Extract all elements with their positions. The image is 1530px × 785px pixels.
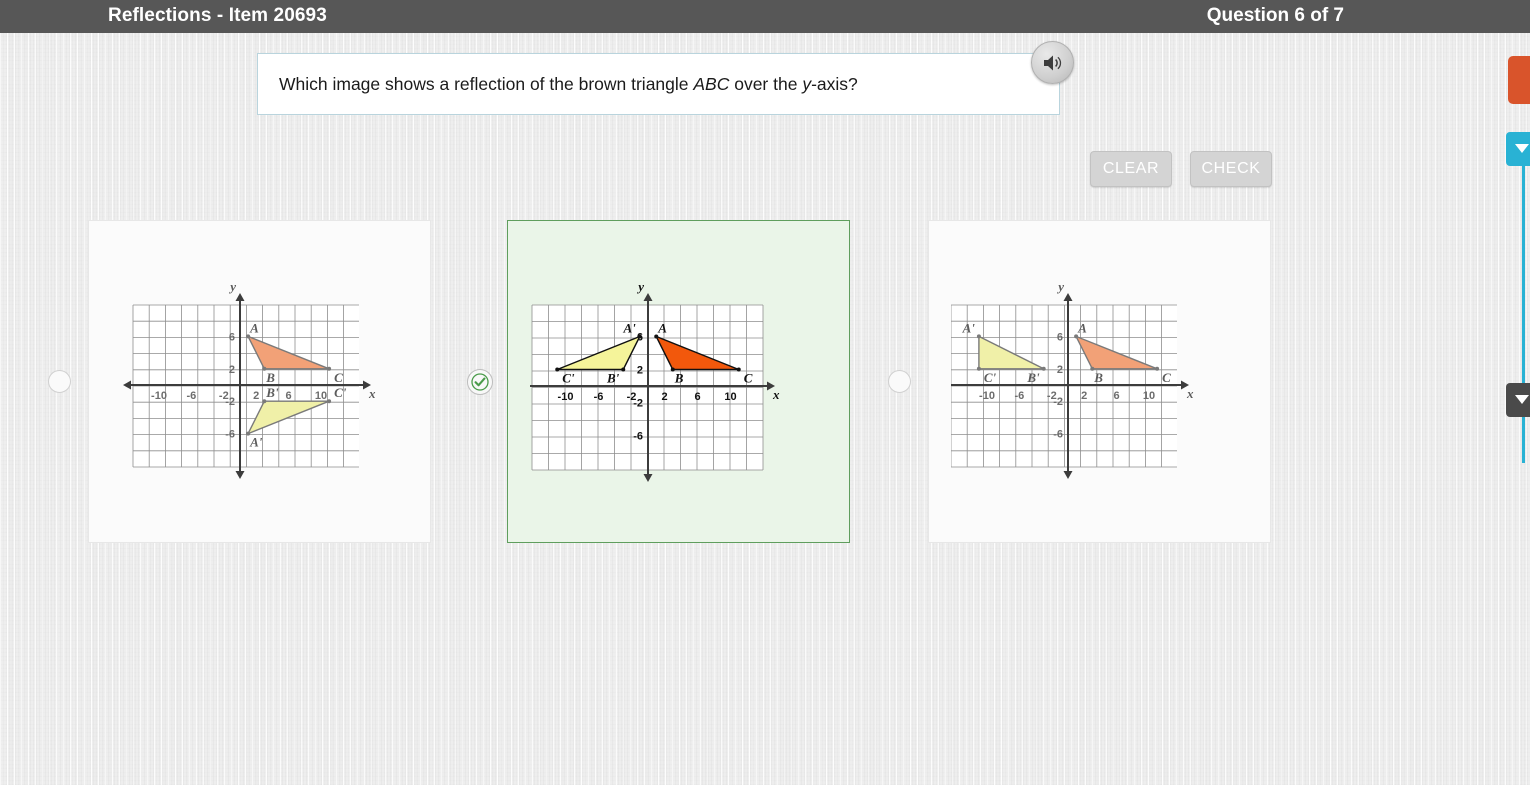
chevron-down-icon xyxy=(1515,395,1529,404)
svg-text:2: 2 xyxy=(661,391,667,403)
answer-option-3[interactable]: -10-6-2261062-2-6xyABCA'B'C' xyxy=(928,220,1271,543)
svg-text:-2: -2 xyxy=(1053,396,1063,408)
question-axis-name: y xyxy=(802,74,811,94)
speaker-icon[interactable] xyxy=(1031,41,1074,84)
svg-text:B: B xyxy=(265,370,275,385)
svg-text:2: 2 xyxy=(1057,364,1063,376)
svg-text:2: 2 xyxy=(637,365,643,377)
graph-svg: -10-6-2261062-2-6xyABCA'B'C' xyxy=(951,283,1251,533)
question-text: Which image shows a reflection of the br… xyxy=(279,74,858,95)
question-suffix: -axis? xyxy=(811,74,858,94)
check-button[interactable]: CHECK xyxy=(1190,151,1272,187)
svg-text:B: B xyxy=(674,371,684,386)
coordinate-graph-3: -10-6-2261062-2-6xyABCA'B'C' xyxy=(951,283,1251,538)
svg-text:C': C' xyxy=(334,385,347,400)
svg-text:B': B' xyxy=(1026,370,1040,385)
svg-text:-6: -6 xyxy=(187,390,197,402)
svg-text:-2: -2 xyxy=(225,396,235,408)
coordinate-graph-2: -10-6-2261062-2-6xyABCA'B'C' xyxy=(530,283,830,538)
svg-text:y: y xyxy=(636,283,644,294)
svg-text:6: 6 xyxy=(694,391,700,403)
svg-text:C: C xyxy=(1162,370,1171,385)
svg-text:-10: -10 xyxy=(979,390,995,402)
option-2-selected-check-icon[interactable] xyxy=(467,369,493,395)
svg-text:B': B' xyxy=(606,371,620,386)
svg-text:C: C xyxy=(744,371,753,386)
svg-text:B': B' xyxy=(265,385,279,400)
dark-collapse-tab[interactable] xyxy=(1506,383,1530,417)
question-box: Which image shows a reflection of the br… xyxy=(257,53,1060,115)
svg-text:A: A xyxy=(249,320,259,335)
svg-text:C': C' xyxy=(984,370,997,385)
clear-button[interactable]: CLEAR xyxy=(1090,151,1172,187)
svg-text:-2: -2 xyxy=(633,398,643,410)
svg-text:A': A' xyxy=(962,320,976,335)
question-triangle-name: ABC xyxy=(693,74,729,94)
coordinate-graph-1: -10-6-2261062-2-6xyABCA'B'C' xyxy=(111,283,411,538)
svg-text:10: 10 xyxy=(315,390,327,402)
svg-text:2: 2 xyxy=(1081,390,1087,402)
svg-text:-6: -6 xyxy=(225,429,235,441)
answer-option-2[interactable]: -10-6-2261062-2-6xyABCA'B'C' xyxy=(507,220,850,543)
svg-text:A': A' xyxy=(622,321,636,336)
cyan-collapse-tab[interactable] xyxy=(1506,132,1530,166)
svg-text:-6: -6 xyxy=(1015,390,1025,402)
svg-text:-6: -6 xyxy=(1053,429,1063,441)
question-progress: Question 6 of 7 xyxy=(1207,5,1344,27)
svg-text:y: y xyxy=(228,283,236,294)
svg-text:-6: -6 xyxy=(633,431,643,443)
option-3-radio[interactable] xyxy=(888,370,911,393)
svg-text:6: 6 xyxy=(1114,390,1120,402)
svg-text:-6: -6 xyxy=(594,391,604,403)
question-prefix: Which image shows a reflection of the br… xyxy=(279,74,693,94)
question-middle: over the xyxy=(729,74,802,94)
svg-text:10: 10 xyxy=(724,391,736,403)
answer-option-1[interactable]: -10-6-2261062-2-6xyABCA'B'C' xyxy=(88,220,431,543)
svg-text:A': A' xyxy=(249,435,263,450)
chevron-down-icon xyxy=(1515,144,1529,153)
check-glyph xyxy=(471,373,489,391)
svg-text:C: C xyxy=(334,370,343,385)
svg-text:2: 2 xyxy=(229,364,235,376)
app-header: Reflections - Item 20693 Question 6 of 7 xyxy=(0,0,1530,33)
graph-svg: -10-6-2261062-2-6xyABCA'B'C' xyxy=(111,283,411,533)
svg-text:B: B xyxy=(1093,370,1103,385)
svg-text:x: x xyxy=(772,387,780,402)
svg-text:6: 6 xyxy=(286,390,292,402)
page-title: Reflections - Item 20693 xyxy=(108,5,327,27)
option-1-radio[interactable] xyxy=(48,370,71,393)
svg-text:A: A xyxy=(657,321,667,336)
orange-tab[interactable] xyxy=(1508,56,1530,104)
svg-text:x: x xyxy=(368,386,376,401)
graph-svg: -10-6-2261062-2-6xyABCA'B'C' xyxy=(530,283,830,533)
svg-text:2: 2 xyxy=(253,390,259,402)
svg-text:6: 6 xyxy=(229,331,235,343)
svg-text:C': C' xyxy=(562,371,575,386)
svg-text:10: 10 xyxy=(1143,390,1155,402)
svg-text:x: x xyxy=(1186,386,1194,401)
svg-text:A: A xyxy=(1077,320,1087,335)
svg-text:-10: -10 xyxy=(151,390,167,402)
svg-text:y: y xyxy=(1056,283,1064,294)
speaker-glyph xyxy=(1041,51,1065,75)
svg-text:6: 6 xyxy=(1057,331,1063,343)
svg-text:-10: -10 xyxy=(558,391,574,403)
